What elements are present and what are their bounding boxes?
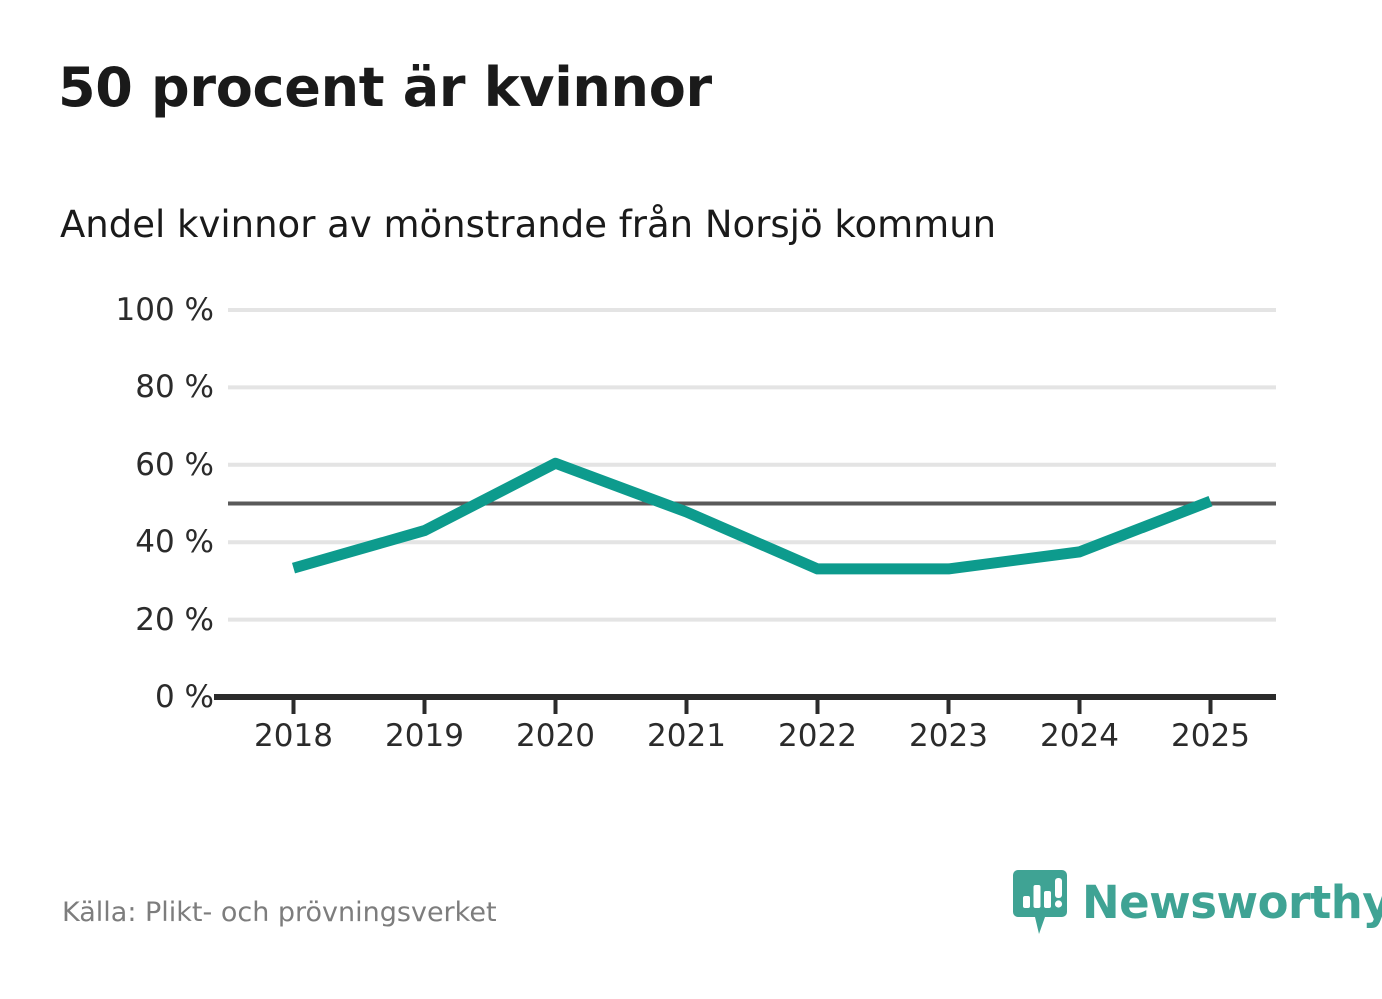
chart-canvas <box>0 0 1382 999</box>
newsworthy-bubble-chart-icon <box>1012 868 1068 936</box>
newsworthy-wordmark: Newsworthy <box>1082 880 1382 925</box>
line-chart: 0 %20 %40 %60 %80 %100 % 201820192020202… <box>0 0 1382 999</box>
y-tick-label: 40 % <box>135 524 214 560</box>
x-tick-label: 2022 <box>778 718 857 754</box>
y-tick-label: 0 % <box>155 679 214 715</box>
y-tick-label: 60 % <box>135 447 214 483</box>
series-line-andel-kvinnor <box>294 463 1211 569</box>
chart-series-line <box>294 463 1211 569</box>
x-tick-label: 2021 <box>647 718 726 754</box>
x-tick-label: 2024 <box>1040 718 1119 754</box>
y-tick-label: 80 % <box>135 369 214 405</box>
x-tick-label: 2018 <box>254 718 333 754</box>
y-tick-label: 100 % <box>116 292 214 328</box>
x-tick-label: 2019 <box>385 718 464 754</box>
x-tick-label: 2020 <box>516 718 595 754</box>
newsworthy-logo: Newsworthy <box>1012 868 1382 936</box>
x-tick-label: 2023 <box>909 718 988 754</box>
chart-x-axis <box>214 697 1276 714</box>
chart-page: 50 procent är kvinnor Andel kvinnor av m… <box>0 0 1382 999</box>
y-tick-label: 20 % <box>135 602 214 638</box>
x-tick-label: 2025 <box>1171 718 1250 754</box>
source-note: Källa: Plikt- och prövningsverket <box>62 897 497 928</box>
